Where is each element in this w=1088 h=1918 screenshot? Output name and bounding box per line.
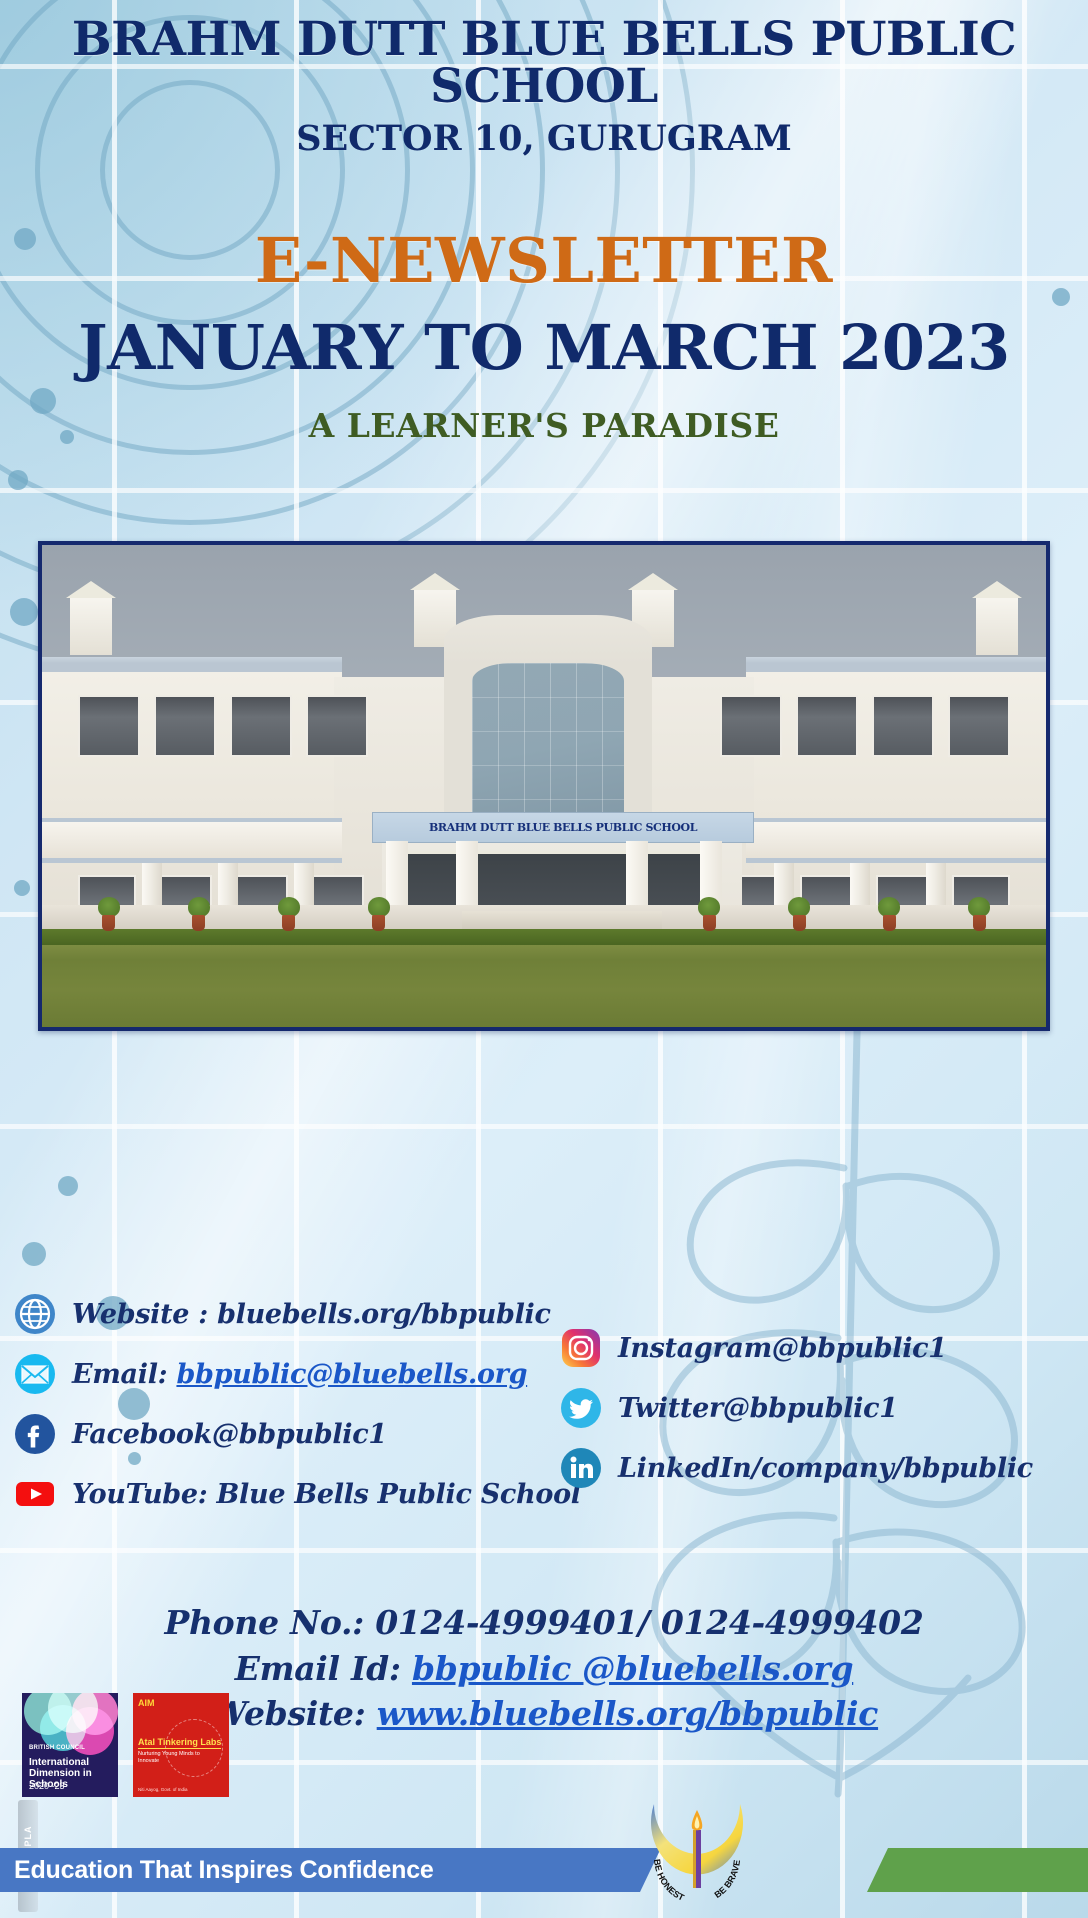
atal-subtitle: Nurturing Young Minds to Innovate	[138, 1751, 222, 1764]
badge-circles-decoration	[22, 1693, 118, 1753]
photo-window	[78, 695, 140, 757]
facebook-icon	[14, 1413, 56, 1455]
contact-row-website[interactable]: Website : bluebells.org/bbpublic	[14, 1292, 534, 1336]
photo-signboard-text: BRAHM DUTT BLUE BELLS PUBLIC SCHOOL	[429, 821, 697, 834]
photo-turret-left	[70, 597, 112, 655]
atal-aim-logo-text: AIM	[138, 1698, 155, 1708]
contact-row-linkedin[interactable]: LinkedIn/company/bbpublic	[560, 1446, 1080, 1490]
contact-row-facebook[interactable]: Facebook@bbpublic1	[14, 1412, 534, 1456]
newsletter-label: E-NEWSLETTER	[0, 224, 1088, 297]
school-sector-subtitle: SECTOR 10, GURUGRAM	[0, 116, 1088, 162]
instagram-icon	[560, 1327, 602, 1369]
contact-email-text: Email: bbpublic@bluebells.org	[72, 1359, 527, 1390]
newsletter-period: JANUARY TO MARCH 2023	[0, 311, 1088, 384]
photo-balcony-left	[42, 818, 342, 863]
photo-lawn	[42, 945, 1046, 1027]
footer-green-bar	[888, 1848, 1088, 1892]
photo-entrance-steps	[462, 911, 662, 931]
twitter-icon	[560, 1387, 602, 1429]
photo-window	[948, 695, 1010, 757]
photo-window	[230, 695, 292, 757]
linkedin-icon	[560, 1447, 602, 1489]
footer-motto-bar: Education That Inspires Confidence	[0, 1848, 640, 1892]
contact-facebook-text: Facebook@bbpublic1	[72, 1419, 387, 1450]
globe-icon	[14, 1293, 56, 1335]
contact-section: Website : bluebells.org/bbpublic Email: …	[0, 1292, 1088, 1528]
photo-window	[872, 695, 934, 757]
atal-tinkering-labs-badge: AIM Atal Tinkering Labs Nurturing Young …	[133, 1693, 229, 1797]
photo-window	[720, 695, 782, 757]
british-council-logo-text: BRITISH COUNCIL	[29, 1745, 85, 1751]
british-council-badge: BRITISH COUNCIL International Dimension …	[22, 1693, 118, 1797]
photo-window	[796, 695, 858, 757]
school-tagline: A LEARNER'S PARADISE	[0, 406, 1088, 445]
atal-footnote: Niti Aayog, Govt. of India	[138, 1787, 224, 1792]
contact-row-youtube[interactable]: YouTube: Blue Bells Public School	[14, 1472, 534, 1516]
school-name-title: BRAHM DUTT BLUE BELLS PUBLIC SCHOOL	[0, 16, 1088, 110]
contact-column-left: Website : bluebells.org/bbpublic Email: …	[14, 1292, 534, 1532]
british-council-years: 2020 -23	[29, 1781, 65, 1791]
contact-row-instagram[interactable]: Instagram@bbpublic1	[560, 1326, 1080, 1370]
contact-instagram-text: Instagram@bbpublic1	[618, 1333, 947, 1364]
contact-row-email[interactable]: Email: bbpublic@bluebells.org	[14, 1352, 534, 1396]
contact-linkedin-text: LinkedIn/company/bbpublic	[618, 1453, 1033, 1484]
contact-youtube-text: YouTube: Blue Bells Public School	[72, 1479, 581, 1510]
youtube-icon	[14, 1473, 56, 1515]
footer-motto-text: Education That Inspires Confidence	[14, 1856, 434, 1885]
contact-column-right: Instagram@bbpublic1 Twitter@bbpublic1	[560, 1326, 1080, 1506]
phone-line: Phone No.: 0124-4999401/ 0124-4999402	[0, 1600, 1088, 1646]
page-header: BRAHM DUTT BLUE BELLS PUBLIC SCHOOL SECT…	[0, 16, 1088, 445]
atal-title: Atal Tinkering Labs	[138, 1737, 221, 1749]
contact-row-twitter[interactable]: Twitter@bbpublic1	[560, 1386, 1080, 1430]
photo-balcony-right	[746, 818, 1046, 863]
contact-website-text: Website : bluebells.org/bbpublic	[72, 1299, 551, 1330]
newsletter-cover-page: BRAHM DUTT BLUE BELLS PUBLIC SCHOOL SECT…	[0, 0, 1088, 1918]
photo-signboard: BRAHM DUTT BLUE BELLS PUBLIC SCHOOL	[372, 812, 754, 843]
envelope-icon	[14, 1353, 56, 1395]
contact-twitter-text: Twitter@bbpublic1	[618, 1393, 898, 1424]
photo-turret-right	[976, 597, 1018, 655]
school-building-photo: BRAHM DUTT BLUE BELLS PUBLIC SCHOOL	[38, 541, 1050, 1031]
school-crest-logo: BE HONEST BE BRAVE	[640, 1794, 754, 1914]
email-line[interactable]: Email Id: bbpublic @bluebells.org	[0, 1646, 1088, 1692]
photo-window	[154, 695, 216, 757]
photo-window	[306, 695, 368, 757]
